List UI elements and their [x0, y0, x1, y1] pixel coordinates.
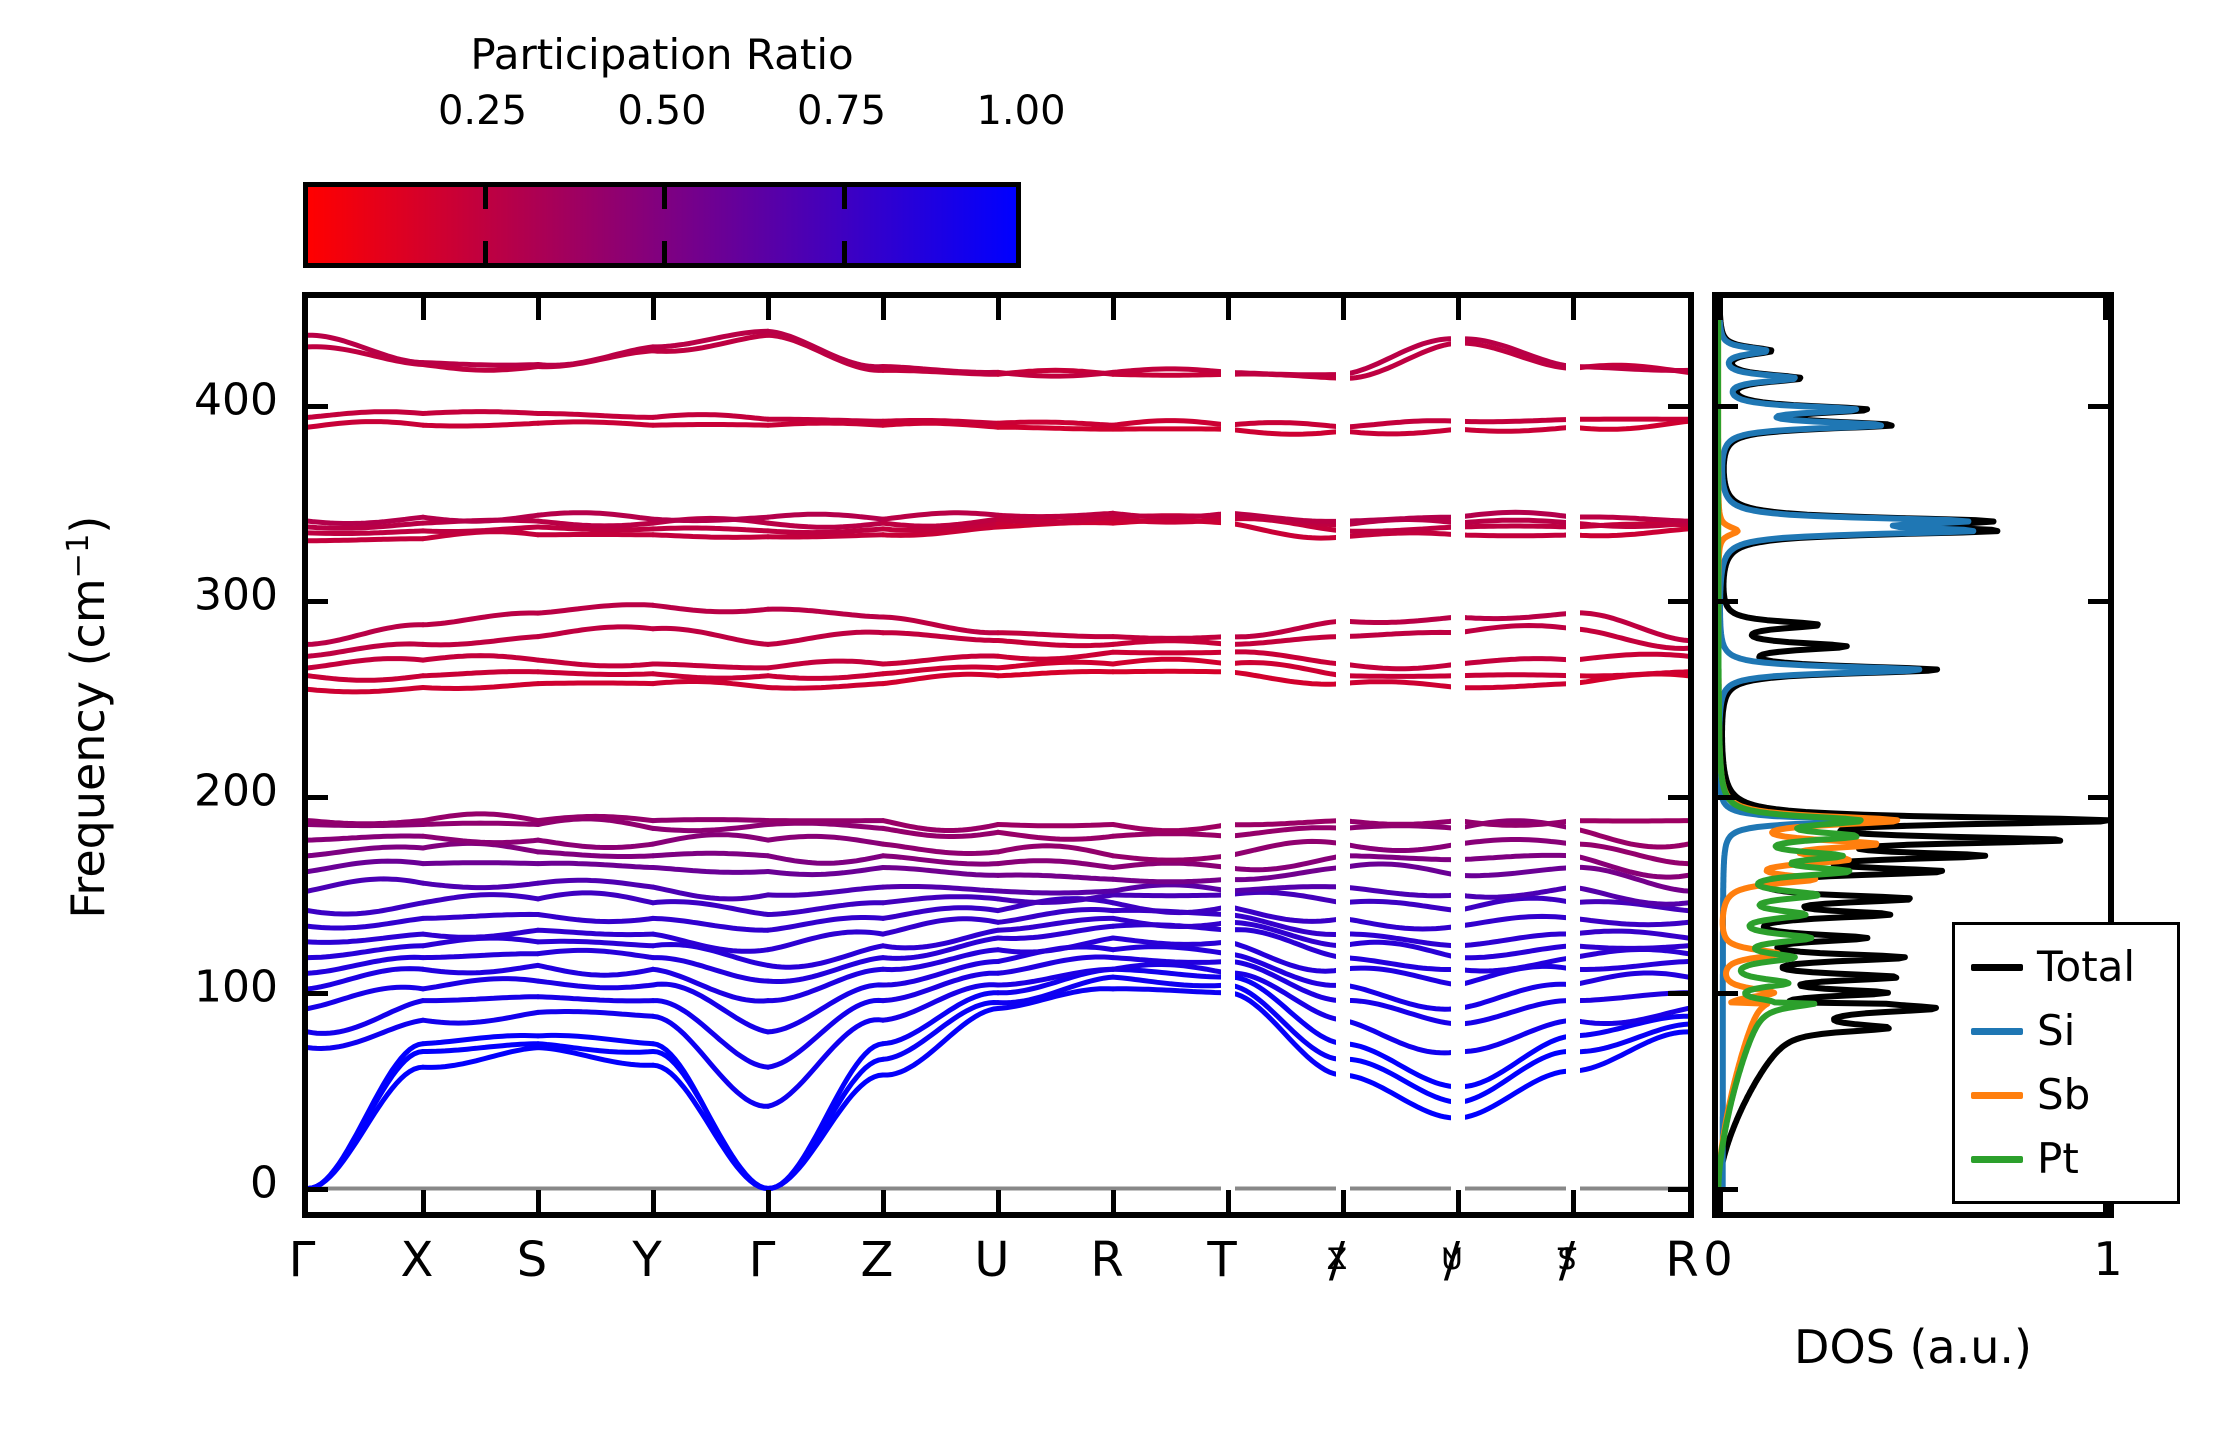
band-segment [423, 684, 538, 689]
band-segment [1113, 856, 1228, 860]
high-symmetry-label: U [974, 1232, 1009, 1288]
band-segment [538, 965, 653, 975]
band-segment [1458, 419, 1573, 421]
band-segment [538, 605, 653, 613]
band-segment [1113, 671, 1228, 672]
band-segment [768, 523, 883, 527]
colorbar-tick-label: 1.00 [976, 88, 1065, 134]
band-segment [998, 832, 1113, 839]
band-segment [998, 372, 1113, 376]
band-segment [1573, 973, 1688, 985]
band-segment [1113, 659, 1228, 664]
high-symmetry-tick-mark [651, 298, 656, 320]
frequency-tick-labels: 0100200300400 [128, 292, 278, 1218]
band-segment [998, 891, 1113, 893]
frequency-tick-mark [308, 404, 328, 409]
band-segment [998, 652, 1113, 659]
dos-frequency-tick-mark [1718, 991, 1738, 996]
band-segment [538, 414, 653, 418]
band-segment [538, 981, 653, 988]
band-segment [1343, 918, 1458, 929]
band-segment [1113, 421, 1228, 426]
band-segment [423, 656, 538, 661]
band-segment [1228, 887, 1343, 891]
band-segment [768, 684, 883, 689]
band-segment [768, 868, 883, 875]
band-segment [653, 628, 768, 644]
band-segment [1458, 984, 1573, 1008]
band-segment [768, 419, 883, 421]
band-segment [768, 856, 883, 864]
band-segment [538, 683, 653, 684]
band-segment [1573, 918, 1688, 924]
band-segment [653, 605, 768, 612]
high-symmetry-tick-mark [536, 1190, 541, 1212]
band-segment [998, 825, 1113, 826]
path-discontinuity-gap [1566, 298, 1580, 1212]
band-segment [653, 853, 768, 856]
band-segment [768, 932, 883, 950]
frequency-tick-mark [1668, 991, 1688, 996]
colorbar-tick-mark [483, 187, 488, 209]
band-segment [308, 412, 423, 418]
band-segment [1573, 962, 1688, 970]
legend-color-swatch [1971, 1156, 2023, 1163]
band-segment [423, 823, 538, 824]
legend-color-swatch [1971, 1028, 2023, 1035]
band-segment [998, 422, 1113, 425]
band-segment [998, 846, 1113, 856]
figure-root: Participation Ratio 0.250.500.751.00 Fre… [0, 0, 2222, 1455]
path-discontinuity-gap [1451, 298, 1465, 1212]
colorbar-tick-label: 0.50 [617, 88, 706, 134]
high-symmetry-tick-mark [1456, 298, 1461, 320]
band-segment [1458, 934, 1573, 946]
band-segment [308, 918, 423, 928]
path-discontinuity-gap [1221, 298, 1235, 1212]
high-symmetry-tick-mark [881, 298, 886, 320]
band-segment [423, 954, 538, 958]
band-segment [538, 997, 653, 1001]
band-segment [883, 908, 998, 919]
colorbar-tick-mark [842, 187, 847, 209]
band-segment [768, 632, 883, 644]
legend-color-swatch [1971, 964, 2023, 971]
band-segment [538, 521, 653, 526]
high-symmetry-label: S [517, 1232, 547, 1288]
band-segment [538, 660, 653, 666]
band-segment [768, 514, 883, 519]
band-segment [1113, 834, 1228, 837]
band-segment [538, 930, 653, 934]
band-segment [1458, 840, 1573, 845]
band-segment [768, 661, 883, 668]
high-symmetry-point-labels: ΓXSYΓZURTZ/XU/YT/SR [302, 1232, 1694, 1342]
frequency-tick-mark [308, 991, 328, 996]
band-segment [538, 852, 653, 857]
band-segment [1458, 916, 1573, 926]
band-segment [308, 688, 423, 692]
band-segment [653, 664, 768, 668]
band-segment [1113, 637, 1228, 639]
band-segment [1113, 879, 1228, 882]
high-symmetry-tick-mark [1571, 298, 1576, 320]
dos-tick-mark [1718, 1190, 1723, 1212]
band-segment [1113, 652, 1228, 653]
high-symmetry-tick-mark [1456, 1190, 1461, 1212]
band-segment [1113, 863, 1228, 867]
band-segment [423, 836, 538, 842]
legend-label: Pt [2037, 1138, 2079, 1180]
legend-label: Total [2037, 946, 2135, 988]
band-segment [423, 979, 538, 989]
band-segment [1113, 369, 1228, 373]
band-segment [768, 823, 883, 828]
band-segment [768, 1059, 883, 1188]
frequency-tick-mark [308, 1187, 328, 1192]
band-segment [538, 1012, 653, 1017]
band-segment [1113, 895, 1228, 896]
band-segment [423, 1012, 538, 1023]
band-segment [1458, 1036, 1573, 1087]
band-segment [1343, 617, 1458, 623]
high-symmetry-tick-mark [1571, 1190, 1576, 1212]
band-segment [1458, 659, 1573, 664]
high-symmetry-tick-mark [996, 298, 1001, 320]
band-segment [308, 934, 423, 942]
high-symmetry-tick-mark [1341, 298, 1346, 320]
frequency-tick-mark [1668, 795, 1688, 800]
band-segment [653, 887, 768, 899]
frequency-tick-label: 300 [194, 570, 278, 621]
band-segment [1573, 529, 1688, 536]
band-segment [423, 914, 538, 918]
frequency-tick-label: 200 [194, 766, 278, 817]
band-segment [308, 1044, 423, 1189]
band-segment [1458, 535, 1573, 536]
band-segment [308, 625, 423, 645]
high-symmetry-tick-mark [651, 1190, 656, 1212]
band-segment [1228, 621, 1343, 637]
frequency-tick-mark [1668, 1187, 1688, 1192]
dos-frequency-tick-mark [2088, 795, 2108, 800]
band-segment [998, 427, 1113, 429]
high-symmetry-label: R [1090, 1232, 1123, 1288]
band-segment [653, 918, 768, 930]
high-symmetry-label: Y [632, 1232, 661, 1288]
frequency-tick-label: 100 [194, 961, 278, 1012]
band-segment [1343, 985, 1458, 1009]
band-segment [1228, 828, 1343, 837]
band-segment [883, 887, 998, 892]
band-segment [423, 930, 538, 937]
band-segment [1113, 958, 1228, 963]
band-segment [1113, 947, 1228, 954]
band-segment [653, 1065, 768, 1188]
band-segment [883, 844, 998, 853]
dos-si-curve [1718, 298, 1973, 1212]
band-segment [1343, 864, 1458, 875]
band-segment [423, 672, 538, 676]
band-segment [538, 880, 653, 887]
legend-item[interactable]: Sb [1955, 1063, 2177, 1127]
band-segment [653, 682, 768, 688]
legend-label: Sb [2037, 1074, 2090, 1116]
band-segment [768, 609, 883, 617]
band-segment [308, 659, 423, 668]
band-segment [1458, 675, 1573, 676]
band-segment [998, 641, 1113, 646]
band-segment [1343, 429, 1458, 434]
band-segment [883, 868, 998, 876]
band-segment [423, 412, 538, 414]
high-symmetry-label: Γ [289, 1232, 316, 1288]
band-segment [653, 902, 768, 915]
frequency-tick-mark [308, 795, 328, 800]
high-symmetry-tick-mark [766, 298, 771, 320]
band-segment [998, 672, 1113, 676]
band-segment [538, 513, 653, 520]
band-segment [538, 915, 653, 922]
band-segment [538, 950, 653, 957]
high-symmetry-label: X [401, 1232, 434, 1288]
band-segment [1228, 372, 1343, 374]
band-segment [423, 363, 538, 366]
band-segment [1228, 841, 1343, 855]
band-segment [1113, 989, 1228, 993]
band-segment [423, 863, 538, 864]
path-discontinuity-gap [1336, 298, 1350, 1212]
band-segment [768, 535, 883, 537]
band-segment [653, 415, 768, 420]
band-segment [768, 1075, 883, 1189]
band-segment [653, 528, 768, 531]
colorbar-tick-mark [842, 241, 847, 263]
dos-frequency-tick-mark [2088, 404, 2108, 409]
band-segment [1573, 1024, 1688, 1052]
band-segment [1573, 654, 1688, 660]
high-symmetry-tick-mark [881, 1190, 886, 1212]
band-segment [308, 821, 423, 824]
band-segment [538, 1035, 653, 1043]
ylabel-text: Frequency (cm [61, 578, 115, 918]
band-segment [423, 997, 538, 1001]
band-segment [1573, 517, 1688, 521]
band-segment [1343, 887, 1458, 896]
dos-legend: TotalSiSbPt [1952, 922, 2180, 1204]
band-segment [768, 985, 883, 1032]
dos-frequency-tick-mark [1718, 404, 1738, 409]
band-segment [883, 674, 998, 683]
band-segment [1228, 423, 1343, 428]
band-segment [423, 637, 538, 645]
high-symmetry-tick-mark [1111, 298, 1116, 320]
band-segment [1458, 1020, 1573, 1051]
band-segment [768, 674, 883, 679]
band-segment [1573, 367, 1688, 371]
band-segment [308, 644, 423, 656]
band-segment [1573, 946, 1688, 949]
band-segment [1458, 868, 1573, 876]
band-segment [308, 422, 423, 428]
high-symmetry-tick-mark [1341, 1190, 1346, 1212]
band-segment [1458, 512, 1573, 517]
high-symmetry-tick-mark [996, 1190, 1001, 1212]
band-segment [1458, 898, 1573, 910]
band-segment [1113, 374, 1228, 375]
band-segment [768, 836, 883, 844]
colorbar-tick-mark [483, 241, 488, 263]
dos-tick-labels: 01 [1712, 1232, 2114, 1302]
band-segment [308, 861, 423, 871]
band-segment [1343, 632, 1458, 636]
band-segment [653, 835, 768, 845]
band-segment [538, 863, 653, 867]
band-curves [308, 298, 1688, 1212]
band-segment [423, 814, 538, 821]
band-segment [1343, 676, 1458, 677]
high-symmetry-tick-mark [536, 298, 541, 320]
band-segment [1113, 825, 1228, 831]
band-segment [768, 918, 883, 931]
band-segment [883, 617, 998, 633]
colorbar-tick-mark [662, 187, 667, 209]
band-segment [998, 633, 1113, 637]
high-symmetry-tick-mark [1226, 298, 1231, 320]
legend-item[interactable]: Total [1955, 935, 2177, 999]
colorbar-title: Participation Ratio [303, 30, 1021, 80]
band-segment [998, 861, 1113, 868]
legend-label: Si [2037, 1010, 2075, 1052]
high-symmetry-tick-mark [421, 1190, 426, 1212]
band-segment [998, 662, 1113, 668]
band-segment [1458, 626, 1573, 633]
band-segment [1458, 520, 1573, 523]
band-segment [538, 672, 653, 675]
band-segment [653, 425, 768, 426]
band-segment [768, 887, 883, 895]
band-segment [1343, 856, 1458, 860]
colorbar-tick-labels: 0.250.500.751.00 [303, 88, 1021, 138]
band-segment [768, 903, 883, 915]
band-segment [1458, 684, 1573, 688]
band-segment [1458, 427, 1573, 431]
band-segment [308, 676, 423, 681]
band-segment [883, 513, 998, 519]
band-segment [998, 513, 1113, 516]
legend-color-swatch [1971, 1092, 2023, 1099]
band-segment [423, 613, 538, 625]
band-segment [538, 893, 653, 903]
band-segment [1573, 421, 1688, 429]
band-segment [1458, 855, 1573, 859]
frequency-axis-label: Frequency (cm−1) [61, 397, 115, 1037]
band-segment [653, 825, 768, 831]
band-segment [1228, 429, 1343, 434]
frequency-tick-label: 0 [250, 1157, 278, 1208]
high-symmetry-tick-mark [421, 298, 426, 320]
band-segment [768, 331, 883, 366]
phonon-band-structure-panel [302, 292, 1694, 1218]
band-segment [883, 656, 998, 664]
ylabel-paren: ) [61, 516, 115, 534]
band-segment [883, 421, 998, 424]
band-segment [1458, 526, 1573, 527]
ylabel-exponent: −1 [61, 534, 96, 579]
dos-axis-label: DOS (a.u.) [1712, 1320, 2114, 1374]
band-segment [768, 946, 883, 967]
band-segment [653, 820, 768, 821]
dos-tick-label: 0 [1703, 1232, 1732, 1286]
band-segment [308, 531, 423, 534]
frequency-tick-mark [1668, 404, 1688, 409]
band-segment [1458, 946, 1573, 958]
band-segment [1343, 844, 1458, 850]
band-segment [998, 875, 1113, 879]
band-segment [1343, 821, 1458, 825]
colorbar-tick-mark [662, 241, 667, 263]
colorbar-tick-label: 0.25 [438, 88, 527, 134]
legend-item[interactable]: Si [1955, 999, 2177, 1063]
band-segment [538, 422, 653, 425]
band-segment [538, 840, 653, 847]
band-segment [423, 965, 538, 973]
legend-item[interactable]: Pt [1955, 1127, 2177, 1191]
band-segment [1343, 421, 1458, 428]
frequency-tick-label: 400 [194, 374, 278, 425]
dos-tick-mark [2103, 298, 2108, 320]
band-segment [1113, 938, 1228, 944]
band-segment [1113, 641, 1228, 645]
band-segment [308, 847, 423, 856]
dos-frequency-tick-mark [1718, 795, 1738, 800]
band-segment [1343, 682, 1458, 688]
high-symmetry-label: Γ [749, 1232, 776, 1288]
band-segment [1343, 664, 1458, 669]
band-segment [1228, 821, 1343, 825]
band-segment [1573, 931, 1688, 938]
band-segment [1458, 887, 1573, 897]
band-segment [1458, 1071, 1573, 1118]
dos-tick-label: 1 [2093, 1232, 2122, 1286]
band-segment [653, 535, 768, 538]
band-segment [308, 836, 423, 840]
band-segment [423, 883, 538, 887]
band-segment [1113, 885, 1228, 891]
band-segment [1343, 1001, 1458, 1025]
high-symmetry-label: R [1665, 1232, 1698, 1288]
band-segment [883, 856, 998, 864]
band-segment [423, 423, 538, 426]
high-symmetry-tick-mark [1226, 1190, 1231, 1212]
colorbar-tick-label: 0.75 [797, 88, 886, 134]
band-segment [423, 895, 538, 903]
band-segment [538, 627, 653, 637]
band-segment [1458, 613, 1573, 619]
band-segment [653, 674, 768, 678]
band-segment [1343, 901, 1458, 910]
band-segment [653, 868, 768, 873]
band-segment [308, 1067, 423, 1188]
band-segment [308, 903, 423, 914]
participation-ratio-colorbar [303, 182, 1021, 268]
band-segment [1343, 527, 1458, 531]
band-segment [1573, 613, 1688, 641]
band-segment [308, 539, 423, 541]
dos-frequency-tick-mark [2088, 599, 2108, 604]
band-segment [538, 941, 653, 946]
band-segment [1228, 892, 1343, 902]
